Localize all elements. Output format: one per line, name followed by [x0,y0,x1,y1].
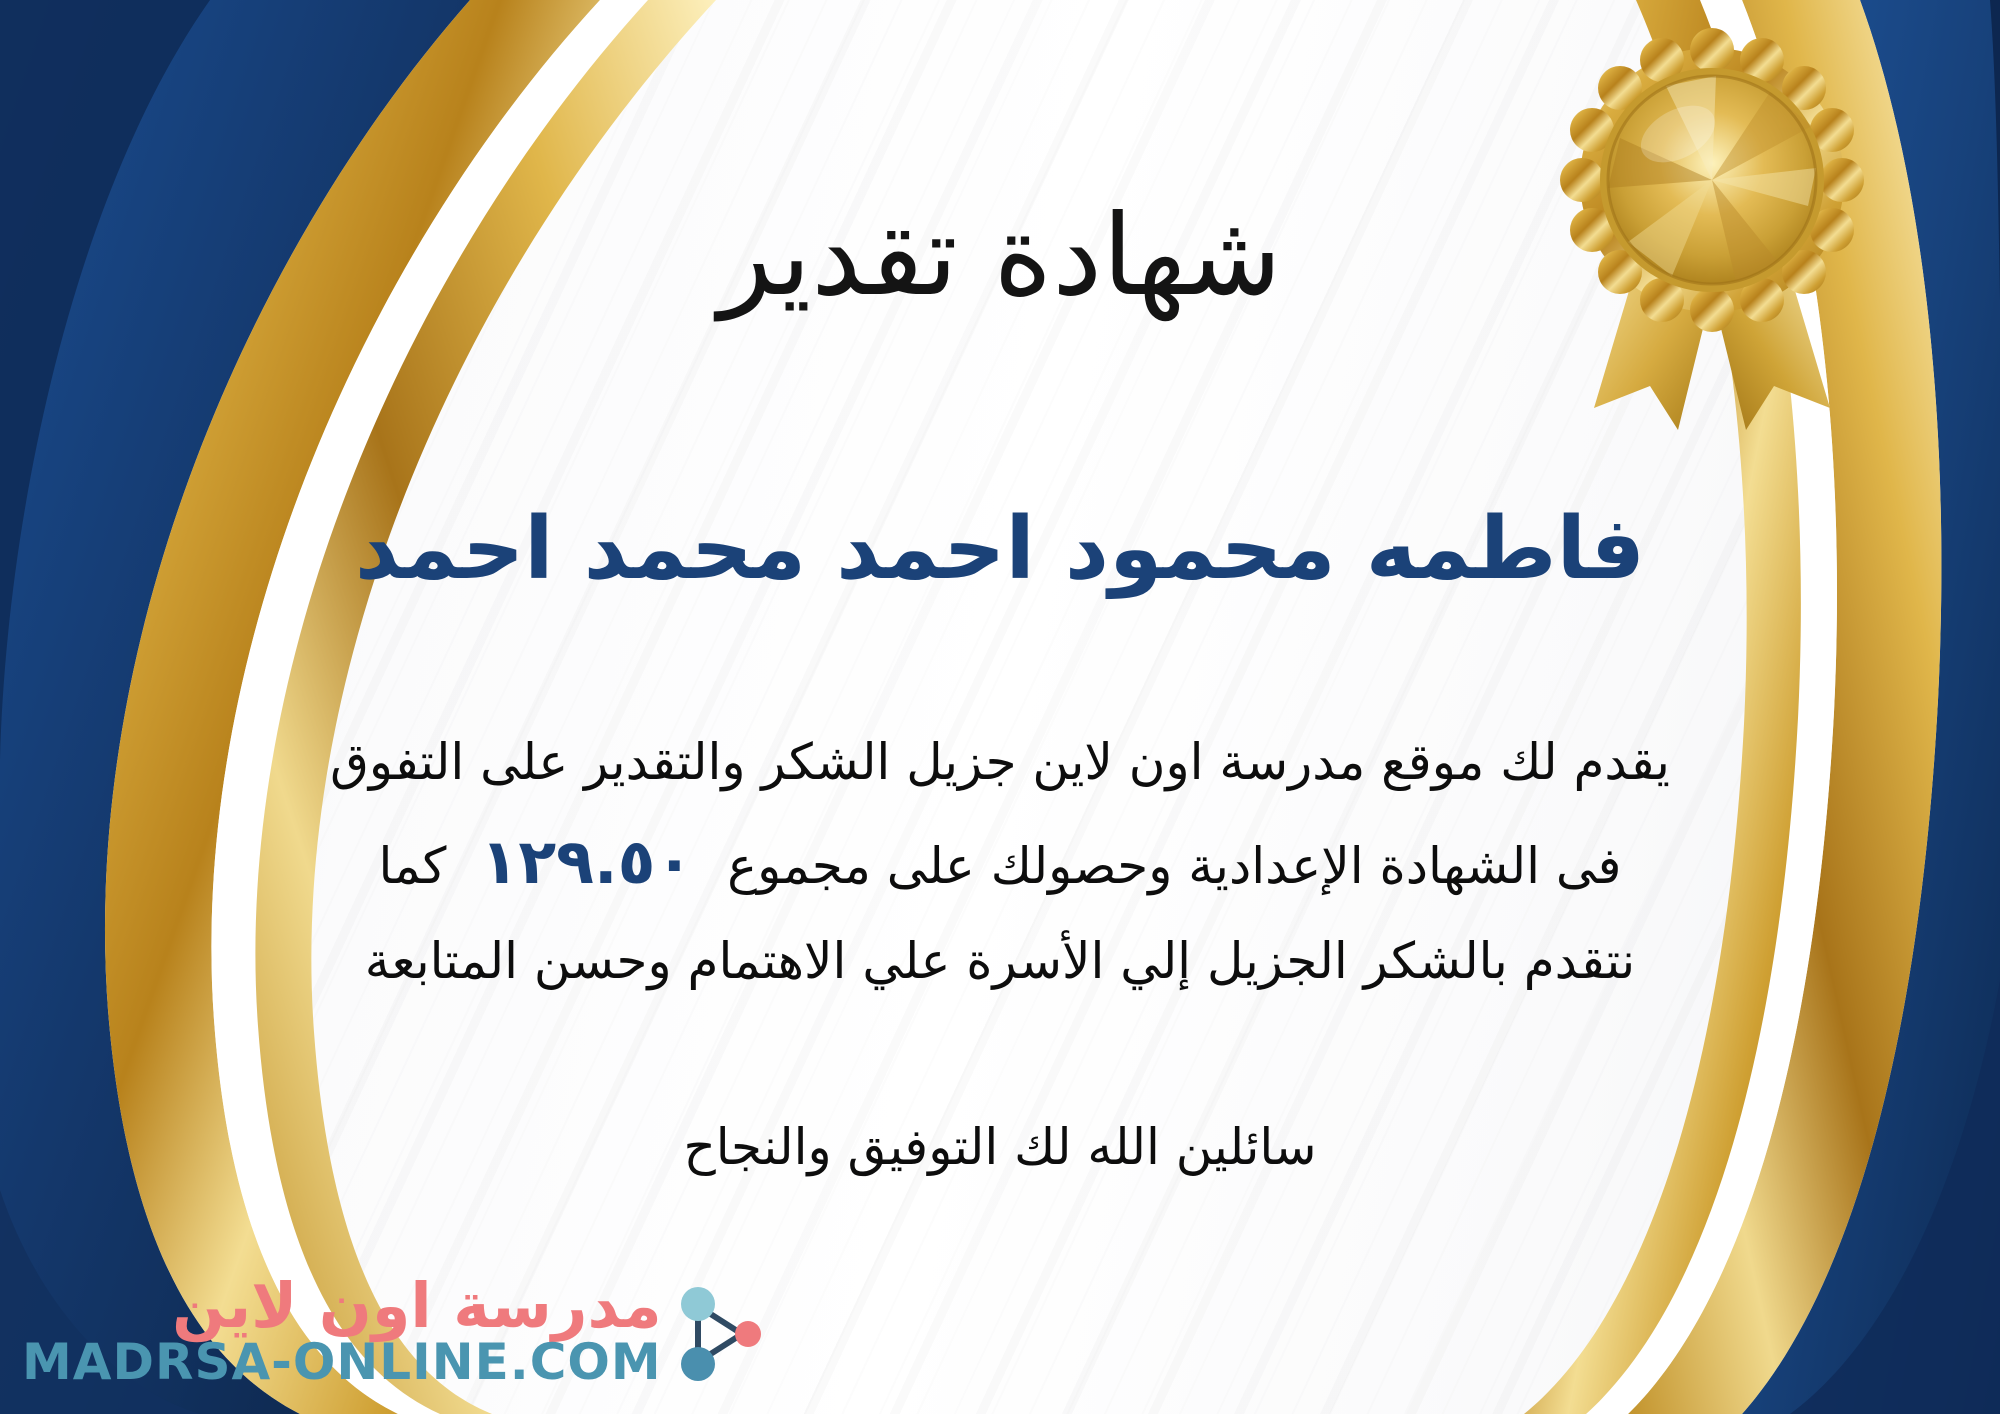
page-title: شهادة تقدير [0,195,2000,318]
score-value: ١٢٩.٥٠ [446,825,727,898]
certificate-canvas: شهادة تقدير فاطمه محمود احمد محمد احمد ي… [0,0,2000,1414]
site-logo[interactable]: مدرسة اون لاين MADRSA-ONLINE.COM [22,1274,764,1388]
student-name: فاطمه محمود احمد محمد احمد [0,500,2000,599]
certificate-body: يقدم لك موقع مدرسة اون لاين جزيل الشكر و… [60,718,1940,1006]
logo-latin-text: MADRSA-ONLINE.COM [22,1337,662,1388]
body-line-3: نتقدم بالشكر الجزيل إلي الأسرة علي الاهت… [60,917,1940,1006]
network-nodes-icon [668,1276,764,1386]
body-line-1: يقدم لك موقع مدرسة اون لاين جزيل الشكر و… [60,718,1940,807]
body-line-2-suffix: كما [379,837,447,895]
body-line-2: فى الشهادة الإعدادية وحصولك على مجموع١٢٩… [60,807,1940,917]
closing-wish: سائلين الله لك التوفيق والنجاح [0,1118,2000,1176]
logo-arabic-text: مدرسة اون لاين [172,1274,662,1337]
body-line-2-prefix: فى الشهادة الإعدادية وحصولك على مجموع [727,837,1621,895]
